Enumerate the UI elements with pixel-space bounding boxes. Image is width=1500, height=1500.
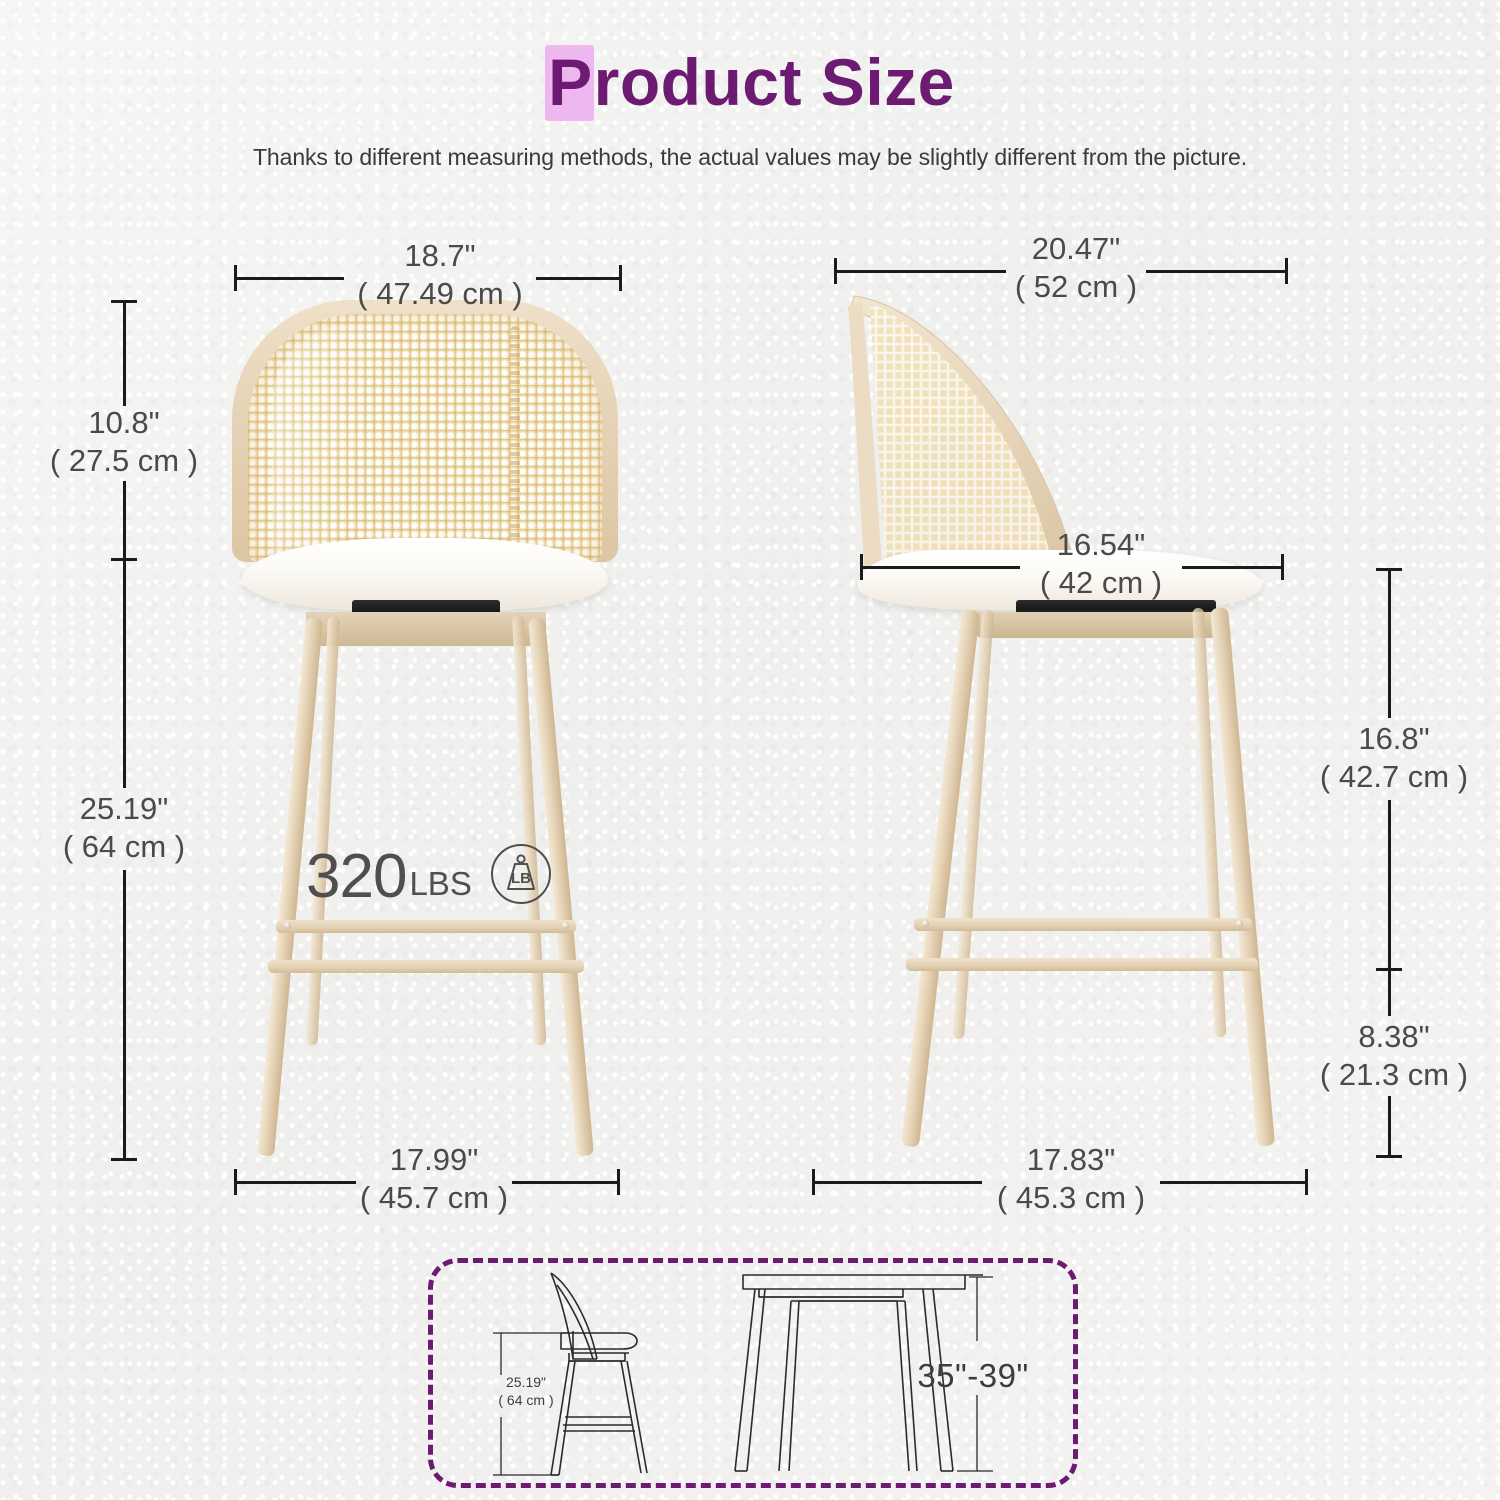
seat-height-label: 25.19" ( 64 cm ) [22, 790, 226, 867]
side-base-depth-label: 17.83" ( 45.3 cm ) [982, 1141, 1160, 1218]
side-footrest-height-inch: 8.38" [1358, 1019, 1429, 1054]
backrest-height-cm: ( 27.5 cm ) [24, 442, 224, 480]
front-base-width-label: 17.99" ( 45.7 cm ) [356, 1141, 512, 1218]
side-footrest-rail-lower [906, 958, 1258, 971]
chair-table-pairing-panel: 25.19" ( 64 cm ) [428, 1258, 1078, 1488]
side-base-rule-left [812, 1181, 982, 1184]
side-view-bar-stool [836, 288, 1276, 1168]
front-base-cap-right [617, 1169, 620, 1195]
side-base-cm: ( 45.3 cm ) [982, 1179, 1160, 1217]
side-seat-footrest-label: 16.8" ( 42.7 cm ) [1294, 720, 1494, 797]
front-base-cm: ( 45.7 cm ) [356, 1179, 512, 1217]
side-seat-footrest-rule-top [1388, 568, 1391, 718]
rattan-seam [510, 326, 520, 554]
product-size-infographic: Product Size Thanks to different measuri… [0, 0, 1500, 1500]
weight-lb-icon: LB [490, 843, 552, 910]
side-seat-depth-cap-left [860, 554, 863, 580]
side-base-cap-right [1305, 1169, 1308, 1195]
side-footrest-height-rule-top [1388, 968, 1391, 1016]
title-highlight-letter: P [545, 45, 594, 121]
side-seat-depth-cap-right [1281, 554, 1284, 580]
weight-capacity-badge: 320 LBS LB [306, 843, 552, 910]
side-footrest-rail-upper [914, 918, 1252, 931]
panel-chair-height-cm: ( 64 cm ) [498, 1392, 553, 1408]
front-base-rule-right [512, 1181, 620, 1184]
side-footrest-height-rule-bottom [1388, 1096, 1391, 1158]
page-title: Product Size [0, 44, 1500, 120]
side-base-inch: 17.83" [1027, 1142, 1116, 1177]
weight-capacity-unit: LBS [409, 867, 471, 900]
front-base-inch: 17.99" [390, 1142, 479, 1177]
side-depth-cap-left [834, 258, 837, 284]
side-seat-footrest-inch: 16.8" [1358, 721, 1429, 756]
side-depth-rule-right [1146, 270, 1288, 273]
seat-height-inch: 25.19" [80, 791, 169, 826]
front-base-rule-left [234, 1181, 356, 1184]
side-leg-back [1210, 607, 1275, 1147]
side-seat-depth-cm: ( 42 cm ) [1020, 564, 1182, 602]
backrest-height-rule-top [123, 300, 126, 406]
seat-height-cm: ( 64 cm ) [22, 828, 226, 866]
side-seat-depth-inch: 16.54" [1057, 527, 1146, 562]
side-footrest-height-cm: ( 21.3 cm ) [1294, 1056, 1494, 1094]
side-seat-depth-label: 16.54" ( 42 cm ) [1020, 526, 1182, 603]
screw-left [284, 922, 291, 929]
backrest-height-cap-top [111, 300, 137, 303]
panel-chair-height-label: 25.19" ( 64 cm ) [481, 1373, 571, 1409]
front-width-cap-left [234, 265, 237, 291]
page-subtitle: Thanks to different measuring methods, t… [0, 144, 1500, 171]
front-width-cm: ( 47.49 cm ) [344, 275, 536, 313]
side-seat-underframe [976, 612, 1222, 638]
side-footrest-height-label: 8.38" ( 21.3 cm ) [1294, 1018, 1494, 1095]
front-width-rule-left [234, 277, 344, 280]
side-screw-left [922, 920, 929, 927]
side-base-cap-left [812, 1169, 815, 1195]
side-depth-rule-left [834, 270, 1006, 273]
svg-text:LB: LB [511, 870, 531, 887]
side-depth-cap-right [1285, 258, 1288, 284]
seat-height-rule-bottom [123, 870, 126, 1160]
rattan-sheen [272, 324, 392, 554]
side-seat-footrest-rule-bottom [1388, 800, 1391, 970]
footrest-rail-upper [276, 920, 576, 933]
seat-underframe [306, 612, 546, 646]
side-seat-footrest-cm: ( 42.7 cm ) [1294, 758, 1494, 796]
front-width-inch: 18.7" [404, 238, 475, 273]
backrest-height-label: 10.8" ( 27.5 cm ) [24, 404, 224, 481]
side-base-rule-right [1160, 1181, 1308, 1184]
panel-chair-height-inch: 25.19" [506, 1374, 546, 1390]
title-remainder: roduct Size [594, 45, 955, 119]
screw-right [562, 922, 569, 929]
front-width-rule-right [536, 277, 622, 280]
side-screw-right [1236, 920, 1243, 927]
seat-height-rule-top [123, 558, 126, 788]
weight-capacity-value: 320 [306, 846, 406, 908]
side-seat-depth-rule-right [1182, 566, 1284, 569]
side-footrest-height-cap-bottom [1376, 1155, 1402, 1158]
panel-table-height-label: 35"-39" [903, 1355, 1043, 1398]
side-seat-footrest-cap-top [1376, 568, 1402, 571]
side-depth-cm: ( 52 cm ) [1006, 268, 1146, 306]
side-seat-depth-rule-left [860, 566, 1020, 569]
side-depth-inch: 20.47" [1032, 231, 1121, 266]
front-base-cap-left [234, 1169, 237, 1195]
front-view-bar-stool [232, 300, 618, 1160]
front-width-cap-right [619, 265, 622, 291]
backrest-height-inch: 10.8" [88, 405, 159, 440]
footrest-rail-lower [268, 960, 584, 973]
front-width-label: 18.7" ( 47.49 cm ) [344, 237, 536, 314]
seat-height-cap-bottom [111, 1158, 137, 1161]
side-depth-label: 20.47" ( 52 cm ) [1006, 230, 1146, 307]
backrest-height-rule-bottom [123, 481, 126, 561]
